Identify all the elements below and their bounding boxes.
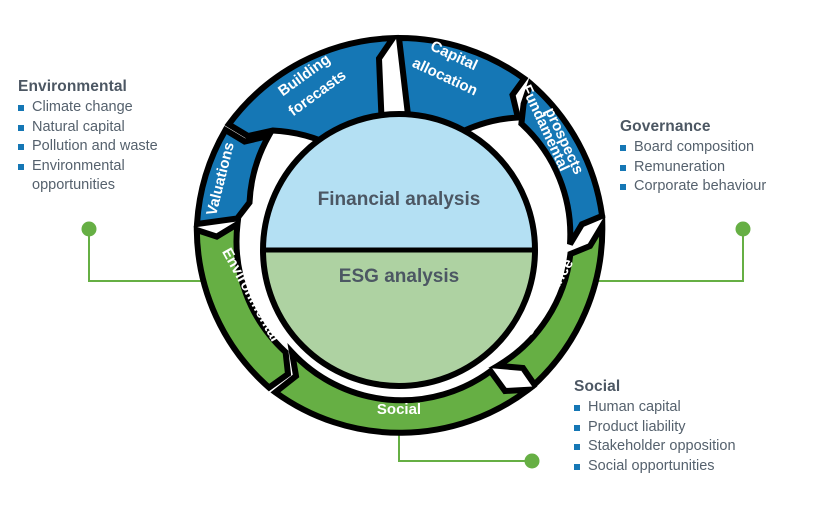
list-item: Remuneration [620, 158, 826, 177]
callout-social: Social Human capital Product liability S… [574, 378, 824, 477]
bullet-icon [18, 164, 24, 170]
list-item-label: Social opportunities [588, 458, 715, 474]
list-item-label: Stakeholder opposition [588, 438, 736, 454]
list-item: Pollution and waste [18, 137, 218, 156]
segment-label-social: Social [377, 401, 421, 418]
bullet-icon [620, 184, 626, 190]
list-item-label: Climate change [32, 99, 133, 115]
bullet-icon [18, 144, 24, 150]
connector-dot-environmental [82, 222, 97, 237]
list-item-label: Product liability [588, 419, 686, 435]
list-item: Stakeholder opposition [574, 437, 824, 456]
bullet-icon [18, 105, 24, 111]
bullet-icon [574, 405, 580, 411]
list-item: Human capital [574, 398, 824, 417]
callout-environmental-list: Climate change Natural capital Pollution… [18, 98, 218, 196]
list-item: Climate change [18, 98, 218, 117]
bullet-icon [620, 145, 626, 151]
callout-governance: Governance Board composition Remuneratio… [620, 118, 826, 197]
callout-governance-list: Board composition Remuneration Corporate… [620, 138, 826, 197]
list-item-label: Pollution and waste [32, 138, 158, 154]
bullet-icon [620, 165, 626, 171]
callout-social-list: Human capital Product liability Stakehol… [574, 398, 824, 477]
list-item: Corporate behaviour [620, 177, 826, 196]
callout-social-title: Social [574, 378, 824, 396]
center-label-financial-analysis: Financial analysis [318, 189, 481, 210]
callout-environmental-title: Environmental [18, 78, 218, 96]
list-item-label: Natural capital [32, 119, 125, 135]
center-label-esg-analysis: ESG analysis [339, 266, 459, 287]
connector-dot-social [525, 454, 540, 469]
list-item-label: Corporate behaviour [634, 178, 766, 194]
list-item: Board composition [620, 138, 826, 157]
list-item: Environmental opportunities [18, 157, 218, 196]
bullet-icon [574, 464, 580, 470]
connector-governance [596, 222, 751, 282]
bullet-icon [574, 425, 580, 431]
list-item-label: Environmental opportunities [32, 158, 125, 193]
list-item: Product liability [574, 418, 824, 437]
callout-environmental: Environmental Climate change Natural cap… [18, 78, 218, 196]
connector-dot-governance [736, 222, 751, 237]
callout-governance-title: Governance [620, 118, 826, 136]
center-circle: Financial analysis ESG analysis [263, 114, 535, 386]
list-item: Social opportunities [574, 457, 824, 476]
bullet-icon [574, 444, 580, 450]
list-item-label: Board composition [634, 139, 754, 155]
diagram-stage: Capital allocation Fundamental prospects… [0, 0, 826, 500]
bullet-icon [18, 125, 24, 131]
list-item-label: Human capital [588, 399, 681, 415]
list-item: Natural capital [18, 118, 218, 137]
list-item-label: Remuneration [634, 159, 725, 175]
